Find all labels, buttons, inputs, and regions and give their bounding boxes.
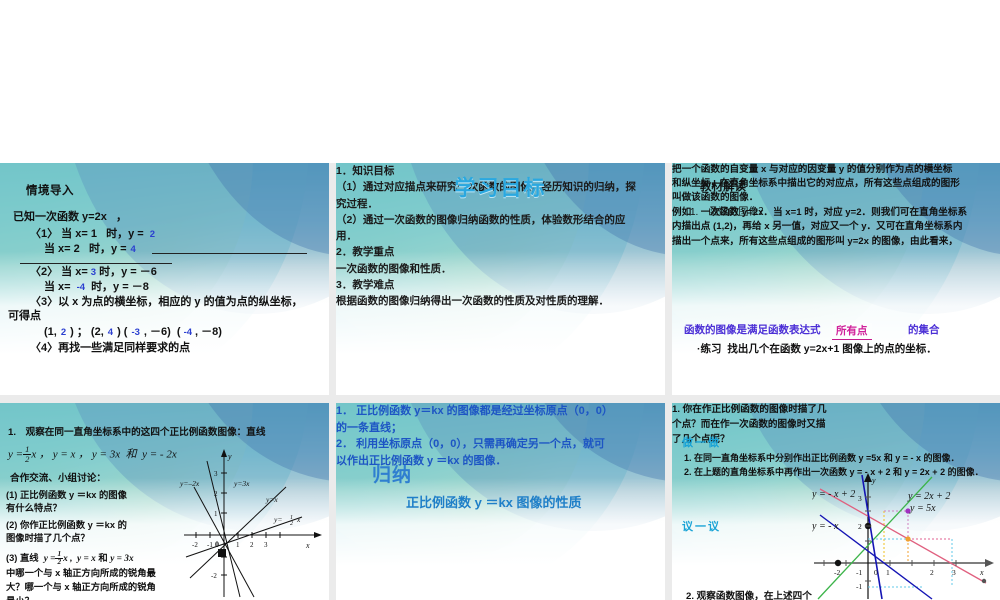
underline-rule-1 — [152, 253, 307, 254]
slide-4-question-1a: (1) 正比例函数 y ＝kx 的图像 — [6, 490, 127, 501]
svg-text:-2: -2 — [192, 541, 198, 549]
slide-1-q4-line: 〈4〉再找一些满足同样要求的点 — [30, 342, 190, 355]
slide-4-instruction: 1. 观察在同一直角坐标系中的这四个正比例函数图像：直线 — [8, 427, 265, 438]
slide-4-graph: y=–2x y=3x y=x y= 1 2 x -2 -1 0 1 2 3 x — [178, 445, 328, 600]
underline-rule-2 — [20, 263, 172, 264]
slide-4-discuss-header: 合作交流、小组讨论： — [10, 473, 106, 484]
slide-1-q3-line: 〈3〉以 x 为点的横坐标，相应的 y 的值为点的纵坐标， — [30, 296, 303, 309]
slide-3-exercise: ·练习 找出几个在函数 y=2x+1 图像上的点的坐标． — [697, 343, 937, 355]
slide-1-q2b-text: 当 x= — [44, 281, 71, 293]
svg-text:3: 3 — [952, 568, 956, 577]
svg-text:2: 2 — [250, 541, 254, 549]
slide-3-key-statement-right: 的集合 — [908, 324, 940, 336]
svg-text:1: 1 — [886, 568, 890, 577]
slide-3-title: 教材解读 — [700, 181, 746, 195]
slide-5-point-1: 1． 正比例函数 y＝kx 的图像都是经过坐标原点（0，0）的一条直线； — [336, 403, 614, 436]
slide-4-question-2b: 图像时描了几个点？ — [6, 533, 90, 544]
slide-3-key-highlight: 所有点 — [832, 323, 872, 340]
svg-text:-1: -1 — [207, 541, 213, 549]
slide-6-graph: y x -2 -1 0 1 2 3 3 2 -1 y = - x + 2 y =… — [812, 471, 1000, 600]
slide-1-q1b-answer: 4 — [131, 244, 136, 255]
slide-1-point-d-value: -4 — [184, 327, 192, 338]
svg-text:x: x — [979, 568, 984, 577]
slide-thumbnail-deck: 情境导入 已知一次函数 y=2x ， 〈1〉 当 x= 1 时，y =2 当 x… — [0, 0, 1000, 600]
slide-4-question-3a: (3) 直线 y =12x , y = x 和 y = 3x — [6, 551, 134, 567]
slide-3-question: 1. 函数的图像？ — [690, 207, 768, 219]
slide-1-q2-answer: 3 — [91, 267, 96, 278]
slide-1-q1b-line: 当 x= 2 时，y =4 — [44, 243, 136, 256]
slide-2-title: 学习目标 — [336, 177, 665, 202]
slide-1-points-row: (1,2) ； (2,4) (-3, －6) (-4, －8) — [44, 326, 222, 339]
svg-text:0: 0 — [874, 568, 878, 577]
slide-6-item-1: 1. 在同一直角坐标系中分别作出正比例函数 y =5x 和 y = - x 的图… — [684, 453, 960, 464]
svg-text:3: 3 — [214, 470, 218, 478]
slide-3-textbook-interpretation[interactable]: 教材解读 1. 函数的图像？ 把一个函数的自变量 x 与对应的因变量 y 的值分… — [672, 163, 1000, 395]
svg-text:1: 1 — [236, 541, 240, 549]
svg-text:y=3x: y=3x — [233, 479, 250, 488]
svg-text:y = 5x: y = 5x — [909, 503, 936, 514]
svg-text:x: x — [305, 541, 310, 550]
slide-4-question-2a: (2) 你作正比例函数 y ＝kx 的 — [6, 520, 127, 531]
svg-text:0: 0 — [215, 540, 219, 549]
slide-1-point-c-value: -3 — [131, 327, 139, 338]
gutter-vertical-4 — [665, 403, 672, 600]
slide-1-given-function: 已知一次函数 y=2x ， — [13, 211, 127, 224]
slide-4-question-3b: 中哪一个与 x 轴正方向所成的锐角最 — [6, 568, 156, 579]
slide-1-point-c-text: ) ( — [117, 326, 127, 338]
svg-text:y: y — [871, 476, 876, 485]
slide-1-q2b-line: 当 x=-4时，y = －8 — [44, 281, 149, 294]
slide-6-heading-do: 做一做 — [682, 437, 721, 450]
slide-1-point-a-value: 2 — [61, 327, 66, 338]
slide-5-title: 归纳 — [372, 465, 412, 487]
slide-1-q2-tail: 时，y = －6 — [99, 266, 157, 278]
slide-1-point-e-text: , －8) — [195, 326, 222, 338]
svg-text:2: 2 — [858, 522, 862, 531]
svg-text:2: 2 — [930, 568, 934, 577]
slide-4-equations: y =12x ， y = x ， y = 3x 和 y = - 2x — [8, 445, 177, 463]
svg-text:-1: -1 — [856, 582, 862, 591]
gutter-horizontal — [0, 395, 1000, 403]
slide-1-q1b-text: 当 x= 2 时，y = — [44, 243, 127, 255]
gutter-vertical-2 — [665, 163, 672, 395]
svg-text:y = - x + 2: y = - x + 2 — [812, 489, 855, 500]
slide-1-q3-line-b: 可得点 — [8, 310, 41, 323]
slide-2-learning-objectives[interactable]: 学习目标 1．知识目标 （1）通过对应描点来研究一次函数的图像，经历知识的归纳，… — [336, 163, 665, 395]
svg-text:3: 3 — [858, 494, 862, 503]
gutter-vertical-1 — [329, 163, 336, 395]
svg-text:-2: -2 — [834, 568, 840, 577]
slide-1-point-d-text: , －6) ( — [144, 326, 181, 338]
slide-1-q2b-tail: 时，y = －8 — [91, 281, 149, 293]
svg-text:y = - x: y = - x — [812, 521, 839, 532]
slide-3-key-statement-left: 函数的图像是满足函数表达式 — [684, 324, 821, 336]
slide-4-question-1b: 有什么特点？ — [6, 503, 62, 514]
svg-text:y=x: y=x — [265, 495, 278, 504]
svg-text:1: 1 — [214, 510, 218, 518]
svg-text:y = 2x + 2: y = 2x + 2 — [907, 491, 950, 502]
svg-text:2: 2 — [214, 490, 218, 498]
slide-1-situation-intro[interactable]: 情境导入 已知一次函数 y=2x ， 〈1〉 当 x= 1 时，y =2 当 x… — [0, 163, 329, 395]
svg-text:y: y — [227, 452, 232, 461]
slide-5-subtitle: 正比例函数 y ＝kx 图像的性质 — [406, 495, 582, 510]
slide-1-q1-line: 〈1〉 当 x= 1 时，y =2 — [30, 228, 155, 241]
svg-text:2: 2 — [290, 521, 293, 527]
slide-6-heading-discuss: 议一议 — [682, 521, 721, 534]
slide-1-q2-text: 〈2〉 当 x= — [30, 266, 88, 278]
gutter-vertical-3 — [329, 403, 336, 600]
svg-text:3: 3 — [264, 541, 268, 549]
slide-1-q2-line: 〈2〉 当 x=3时，y = －6 — [30, 266, 157, 279]
svg-text:y=: y= — [273, 515, 282, 524]
slide-1-q1-answer: 2 — [150, 229, 155, 240]
slide-1-point-b-text: ) ； (2, — [70, 326, 104, 338]
svg-text:-1: -1 — [856, 568, 862, 577]
slide-1-point-b-value: 4 — [108, 327, 113, 338]
svg-text:-2: -2 — [211, 572, 217, 580]
slide-1-title: 情境导入 — [26, 185, 74, 199]
slide-1-point-a-text: (1, — [44, 326, 57, 338]
slide-1-q2b-answer: -4 — [77, 282, 85, 293]
svg-text:y=–2x: y=–2x — [179, 479, 200, 488]
slide-1-q1-text: 〈1〉 当 x= 1 时，y = — [30, 228, 144, 240]
slide-5-summary[interactable]: 归纳 正比例函数 y ＝kx 图像的性质 1． 正比例函数 y＝kx 的图像都是… — [336, 403, 665, 600]
svg-text:x: x — [296, 515, 301, 524]
slide-4-question-3c: 大？哪一个与 x 轴正方向所成的锐角 — [6, 582, 156, 593]
slide-4-observe-graphs[interactable]: 1. 观察在同一直角坐标系中的这四个正比例函数图像：直线 y =12x ， y … — [0, 403, 329, 600]
slide-4-question-3d: 最小？ — [6, 596, 34, 600]
slide-6-practice-discussion[interactable]: 做一做 1. 在同一直角坐标系中分别作出正比例函数 y =5x 和 y = - … — [672, 403, 1000, 600]
